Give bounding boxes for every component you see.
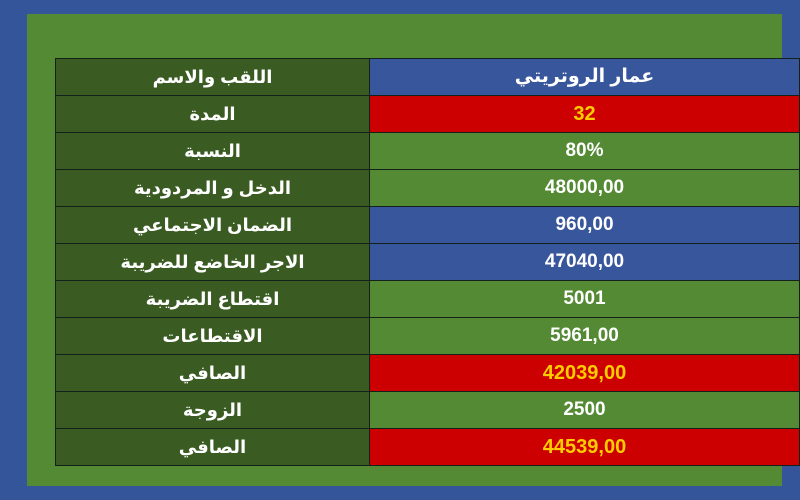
content-panel: عمار الروتريتياللقب والاسم32المدة80%النس… bbox=[27, 14, 782, 486]
table-row: 48000,00الدخل و المردودية bbox=[56, 170, 800, 207]
table-row: 44539,00الصافي bbox=[56, 429, 800, 466]
table-row: 960,00الضمان الاجتماعي bbox=[56, 207, 800, 244]
table-cell-label: النسبة bbox=[56, 133, 370, 170]
table-cell-value: 80% bbox=[370, 133, 800, 170]
table-cell-label: الزوجة bbox=[56, 392, 370, 429]
table-cell-value: 960,00 bbox=[370, 207, 800, 244]
table-cell-label: الصافي bbox=[56, 355, 370, 392]
table-row: 42039,00الصافي bbox=[56, 355, 800, 392]
salary-table: عمار الروتريتياللقب والاسم32المدة80%النس… bbox=[55, 58, 800, 466]
table-cell-value: 48000,00 bbox=[370, 170, 800, 207]
table-cell-label: المدة bbox=[56, 96, 370, 133]
slide-canvas: عمار الروتريتياللقب والاسم32المدة80%النس… bbox=[0, 0, 800, 500]
table-cell-value: 47040,00 bbox=[370, 244, 800, 281]
salary-table-body: عمار الروتريتياللقب والاسم32المدة80%النس… bbox=[56, 59, 800, 466]
table-cell-value: عمار الروتريتي bbox=[370, 59, 800, 96]
table-cell-label: الدخل و المردودية bbox=[56, 170, 370, 207]
table-cell-label: اللقب والاسم bbox=[56, 59, 370, 96]
table-row: 2500الزوجة bbox=[56, 392, 800, 429]
table-row: 47040,00الاجر الخاضع للضريبة bbox=[56, 244, 800, 281]
table-row: عمار الروتريتياللقب والاسم bbox=[56, 59, 800, 96]
table-cell-value: 42039,00 bbox=[370, 355, 800, 392]
table-cell-label: الاجر الخاضع للضريبة bbox=[56, 244, 370, 281]
table-row: 80%النسبة bbox=[56, 133, 800, 170]
table-cell-label: الضمان الاجتماعي bbox=[56, 207, 370, 244]
table-cell-value: 5001 bbox=[370, 281, 800, 318]
table-cell-label: الصافي bbox=[56, 429, 370, 466]
table-cell-value: 32 bbox=[370, 96, 800, 133]
table-row: 5001اقتطاع الضريبة bbox=[56, 281, 800, 318]
table-row: 32المدة bbox=[56, 96, 800, 133]
table-cell-value: 2500 bbox=[370, 392, 800, 429]
table-cell-value: 5961,00 bbox=[370, 318, 800, 355]
table-row: 5961,00الاقتطاعات bbox=[56, 318, 800, 355]
table-cell-label: اقتطاع الضريبة bbox=[56, 281, 370, 318]
table-cell-value: 44539,00 bbox=[370, 429, 800, 466]
table-cell-label: الاقتطاعات bbox=[56, 318, 370, 355]
